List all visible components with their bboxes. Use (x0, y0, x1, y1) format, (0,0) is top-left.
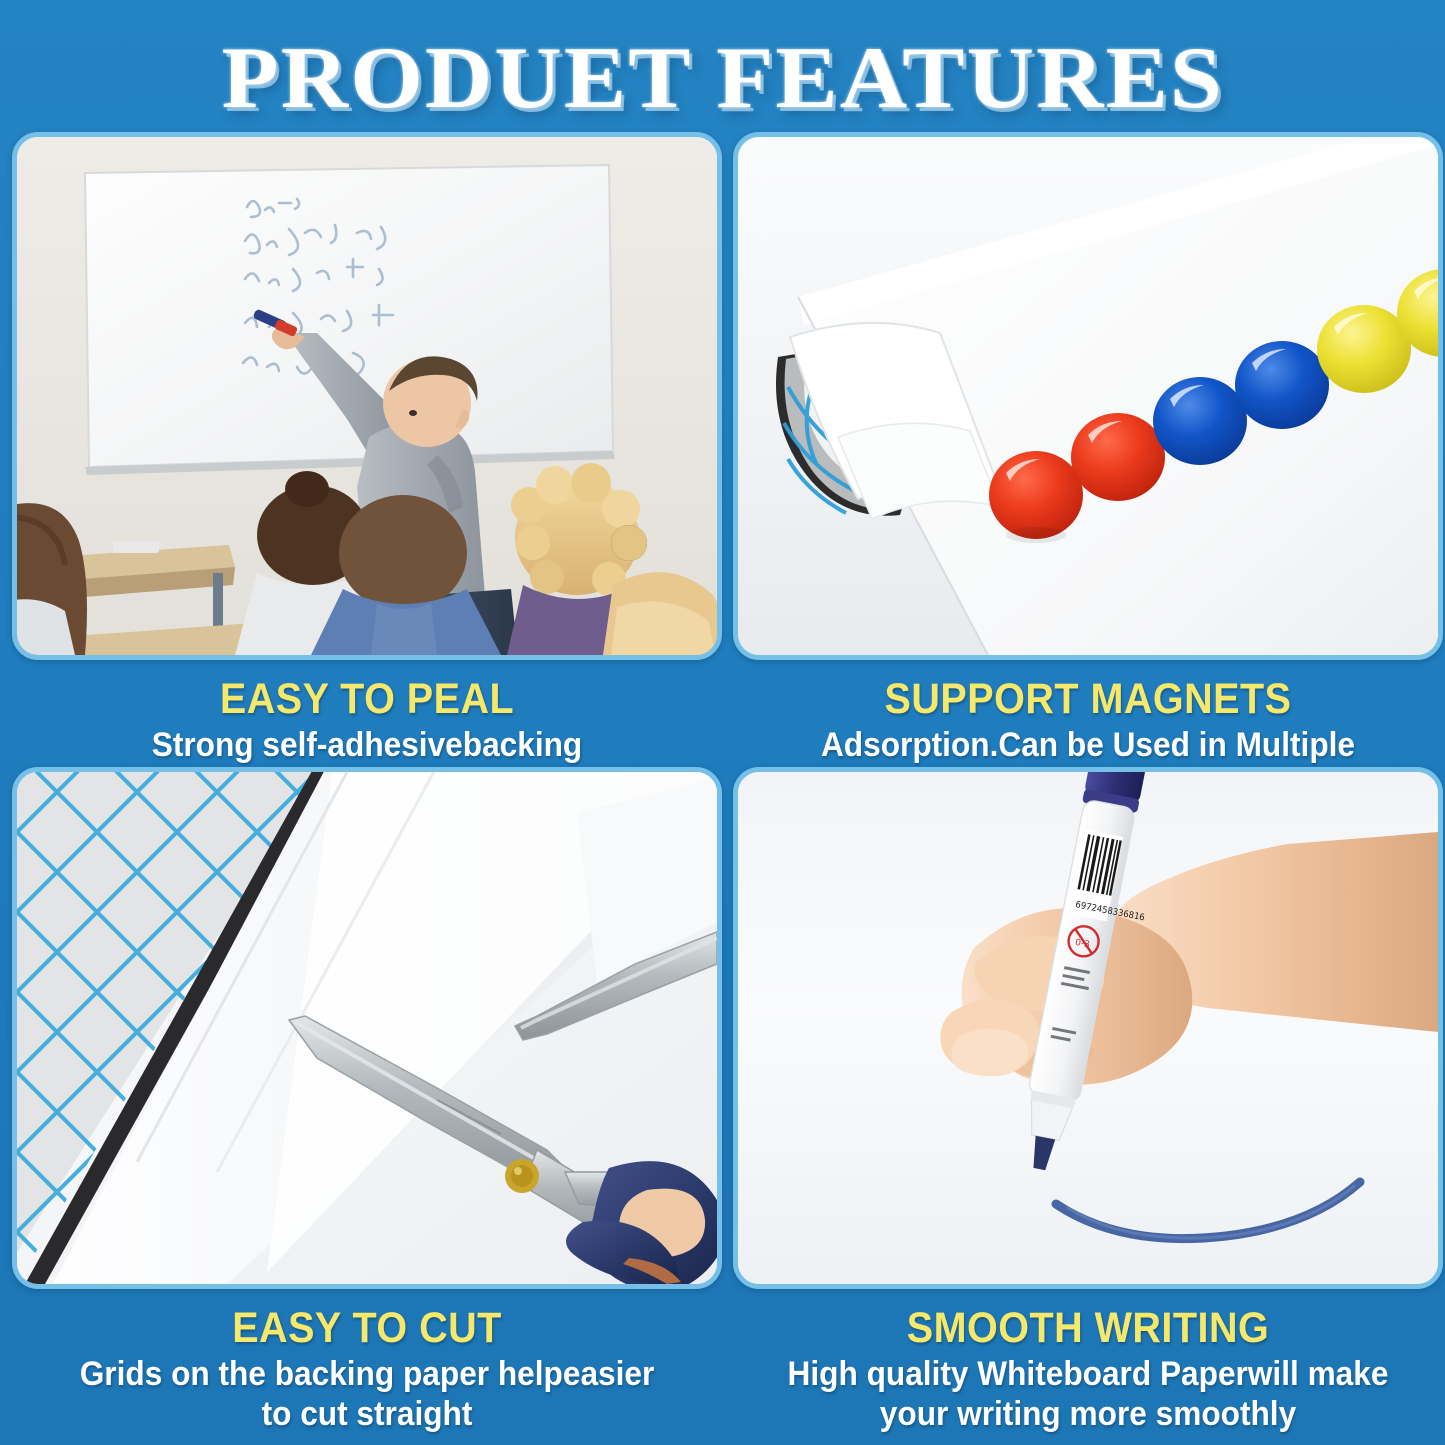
magnet-yellow-1 (1317, 305, 1411, 393)
magnet-blue-2 (1235, 341, 1329, 429)
scissors-illustration (17, 772, 717, 1284)
magnet-red-2 (1071, 413, 1165, 501)
photo-hand-writing: 6972458336816 0-3 (733, 767, 1443, 1289)
feature-panel-support-magnets: SUPPORT MAGNETS Adsorption.Can be Used i… (733, 132, 1445, 805)
caption-subtitle: Grids on the backing paper helpeasier to… (37, 1355, 697, 1434)
caption-subtitle-line: High quality Whiteboard Paperwill make (758, 1355, 1418, 1394)
caption-subtitle: High quality Whiteboard Paperwill make y… (758, 1355, 1418, 1434)
caption-easy-to-peal: EASY TO PEAL Strong self-adhesivebacking (12, 660, 722, 766)
magnets-illustration (738, 137, 1438, 655)
scissors-pivot (505, 1159, 539, 1193)
photo-scissors-cutting (12, 767, 722, 1289)
caption-heading: SMOOTH WRITING (761, 1305, 1414, 1351)
feature-grid: EASY TO PEAL Strong self-adhesivebacking (0, 132, 1445, 1445)
feature-panel-easy-to-cut: EASY TO CUT Grids on the backing paper h… (12, 767, 724, 1434)
magnet-blue-1 (1153, 377, 1247, 465)
photo-magnets (733, 132, 1443, 660)
caption-subtitle-line: your writing more smoothly (758, 1395, 1418, 1434)
marker-illustration: 6972458336816 0-3 (738, 772, 1438, 1284)
caption-heading: SUPPORT MAGNETS (761, 676, 1414, 722)
caption-subtitle: Strong self-adhesivebacking (37, 726, 697, 765)
caption-subtitle-line: Strong self-adhesivebacking (37, 726, 697, 765)
page-title-wrap: PRODUET FEATURES (0, 28, 1445, 129)
caption-subtitle-line: to cut straight (37, 1395, 697, 1434)
caption-subtitle-line: Grids on the backing paper helpeasier (37, 1355, 697, 1394)
caption-easy-to-cut: EASY TO CUT Grids on the backing paper h… (12, 1289, 722, 1434)
feature-panel-smooth-writing: 6972458336816 0-3 (733, 767, 1445, 1434)
caption-heading: EASY TO CUT (40, 1305, 693, 1351)
infographic-page: PRODUET FEATURES (0, 0, 1445, 1445)
classroom-illustration (17, 137, 717, 655)
caption-heading: EASY TO PEAL (40, 676, 693, 722)
page-title: PRODUET FEATURES (221, 28, 1223, 129)
feature-panel-easy-to-peal: EASY TO PEAL Strong self-adhesivebacking (12, 132, 724, 766)
caption-smooth-writing: SMOOTH WRITING High quality Whiteboard P… (733, 1289, 1443, 1434)
photo-classroom-whiteboard (12, 132, 722, 660)
